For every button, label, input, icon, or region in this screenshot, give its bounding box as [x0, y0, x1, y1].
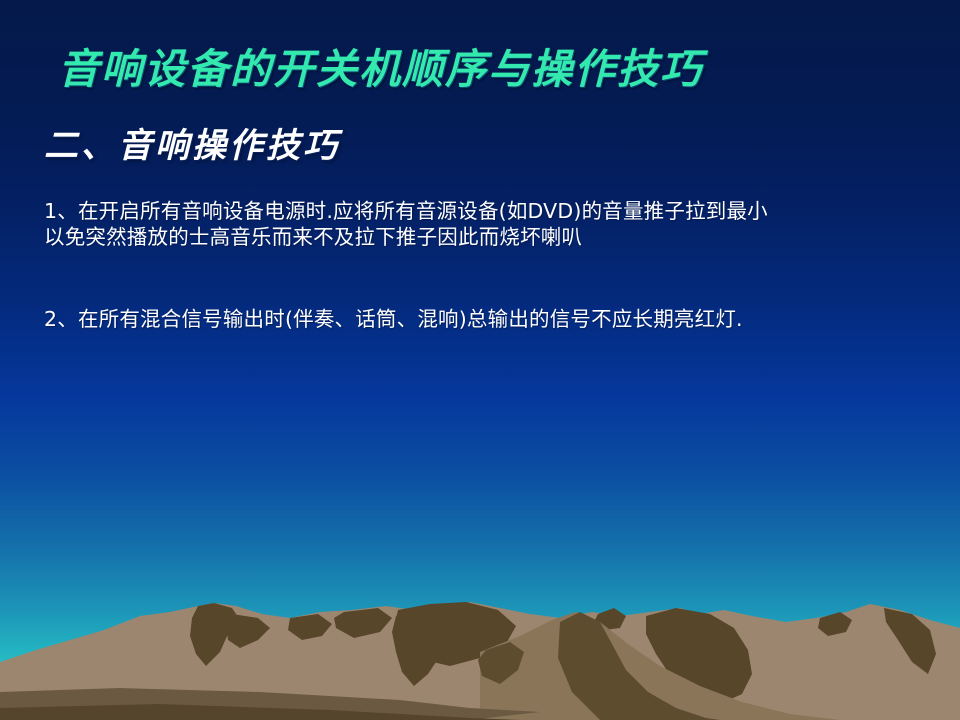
body-content: 1、在开启所有音响设备电源时.应将所有音源设备(如DVD)的音量推子拉到最小 以…	[44, 198, 924, 332]
mountain-range-graphic	[0, 600, 960, 720]
body-line: 2、在所有混合信号输出时(伴奏、话筒、混响)总输出的信号不应长期亮红灯.	[44, 306, 924, 332]
title-container: 音响设备的开关机顺序与操作技巧	[0, 46, 960, 93]
body-paragraph-1: 1、在开启所有音响设备电源时.应将所有音源设备(如DVD)的音量推子拉到最小 以…	[44, 198, 924, 250]
body-line: 1、在开启所有音响设备电源时.应将所有音源设备(如DVD)的音量推子拉到最小	[44, 198, 924, 224]
slide-canvas: 音响设备的开关机顺序与操作技巧 二、音响操作技巧 1、在开启所有音响设备电源时.…	[0, 0, 960, 720]
body-line: 以免突然播放的士高音乐而来不及拉下推子因此而烧坏喇叭	[44, 224, 924, 250]
page-title: 音响设备的开关机顺序与操作技巧	[58, 46, 703, 93]
section-heading: 二、音响操作技巧	[44, 126, 340, 167]
subtitle-container: 二、音响操作技巧	[0, 126, 960, 167]
body-paragraph-2: 2、在所有混合信号输出时(伴奏、话筒、混响)总输出的信号不应长期亮红灯.	[44, 306, 924, 332]
